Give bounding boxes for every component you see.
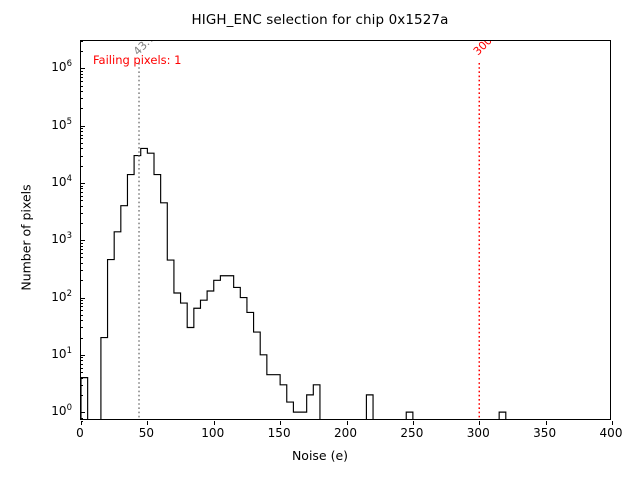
- y-tick-minor: [81, 86, 83, 87]
- y-tick-minor: [81, 166, 83, 167]
- y-tick-minor: [81, 108, 83, 109]
- y-tick-major: [81, 412, 85, 413]
- y-tick-minor: [81, 360, 83, 361]
- y-tick-minor: [81, 223, 83, 224]
- y-tick-minor: [81, 41, 83, 42]
- y-tick-minor: [81, 357, 83, 358]
- y-tick-major: [81, 355, 85, 356]
- y-tick-major: [81, 240, 85, 241]
- y-tick-minor: [81, 186, 83, 187]
- y-tick-minor: [81, 263, 83, 264]
- y-tick-minor: [81, 206, 83, 207]
- y-tick-minor: [81, 51, 83, 52]
- y-tick-minor: [81, 280, 83, 281]
- y-axis-label: Number of pixels: [19, 128, 34, 348]
- y-tick-minor: [81, 74, 83, 75]
- y-tick-minor: [81, 320, 83, 321]
- x-tick-label: 0: [76, 426, 84, 440]
- y-tick-minor: [81, 135, 83, 136]
- y-tick-minor: [81, 303, 83, 304]
- y-tick-minor: [81, 188, 83, 189]
- x-tick-major: [214, 421, 215, 425]
- y-tick-minor: [81, 138, 83, 139]
- x-tick-label: 400: [600, 426, 623, 440]
- y-tick-minor: [81, 364, 83, 365]
- x-tick-label: 100: [201, 426, 224, 440]
- y-tick-minor: [81, 243, 83, 244]
- y-tick-minor: [81, 200, 83, 201]
- y-tick-minor: [81, 338, 83, 339]
- histogram-svg: [81, 41, 610, 419]
- x-axis-label: Noise (e): [0, 448, 640, 463]
- y-tick-minor: [81, 77, 83, 78]
- histogram-step-line: [81, 148, 610, 419]
- x-tick-major: [280, 421, 281, 425]
- plot-area: Failing pixels: 1 43.7300: [81, 41, 610, 419]
- y-tick-label: 101: [14, 347, 72, 361]
- page-title: HIGH_ENC selection for chip 0x1527a: [0, 12, 640, 28]
- y-tick-minor: [81, 421, 83, 422]
- y-tick-major: [81, 298, 85, 299]
- x-tick-major: [347, 421, 348, 425]
- y-tick-minor: [81, 131, 83, 132]
- y-tick-minor: [81, 249, 83, 250]
- y-tick-minor: [81, 368, 83, 369]
- y-tick-minor: [81, 253, 83, 254]
- vline-group: [139, 63, 479, 419]
- y-tick-minor: [81, 196, 83, 197]
- x-tick-label: 250: [400, 426, 423, 440]
- y-tick-minor: [81, 71, 83, 72]
- y-tick-minor: [81, 246, 83, 247]
- y-tick-minor: [81, 306, 83, 307]
- y-tick-minor: [81, 270, 83, 271]
- x-tick-label: 150: [268, 426, 291, 440]
- y-tick-label: 106: [14, 60, 72, 74]
- y-tick-minor: [81, 372, 83, 373]
- y-tick-minor: [81, 98, 83, 99]
- x-tick-label: 300: [467, 426, 490, 440]
- y-tick-minor: [81, 310, 83, 311]
- y-tick-major: [81, 126, 85, 127]
- x-tick-major: [612, 421, 613, 425]
- x-tick-major: [147, 421, 148, 425]
- y-tick-minor: [81, 315, 83, 316]
- y-tick-minor: [81, 418, 83, 419]
- y-tick-minor: [81, 395, 83, 396]
- y-tick-minor: [81, 156, 83, 157]
- y-tick-minor: [81, 91, 83, 92]
- y-tick-minor: [81, 257, 83, 258]
- figure-canvas: HIGH_ENC selection for chip 0x1527a Fail…: [0, 0, 640, 480]
- x-tick-label: 200: [334, 426, 357, 440]
- y-tick-major: [81, 68, 85, 69]
- x-tick-major: [479, 421, 480, 425]
- y-tick-minor: [81, 378, 83, 379]
- y-tick-minor: [81, 128, 83, 129]
- x-tick-label: 50: [139, 426, 154, 440]
- y-tick-label: 100: [14, 404, 72, 418]
- plot-axes: Failing pixels: 1 43.7300: [80, 40, 611, 420]
- y-tick-minor: [81, 148, 83, 149]
- y-tick-minor: [81, 213, 83, 214]
- y-tick-minor: [81, 385, 83, 386]
- y-tick-minor: [81, 81, 83, 82]
- x-tick-major: [413, 421, 414, 425]
- x-tick-label: 350: [533, 426, 556, 440]
- y-tick-minor: [81, 143, 83, 144]
- y-tick-minor: [81, 327, 83, 328]
- x-tick-major: [546, 421, 547, 425]
- y-tick-minor: [81, 192, 83, 193]
- y-tick-minor: [81, 300, 83, 301]
- y-tick-major: [81, 183, 85, 184]
